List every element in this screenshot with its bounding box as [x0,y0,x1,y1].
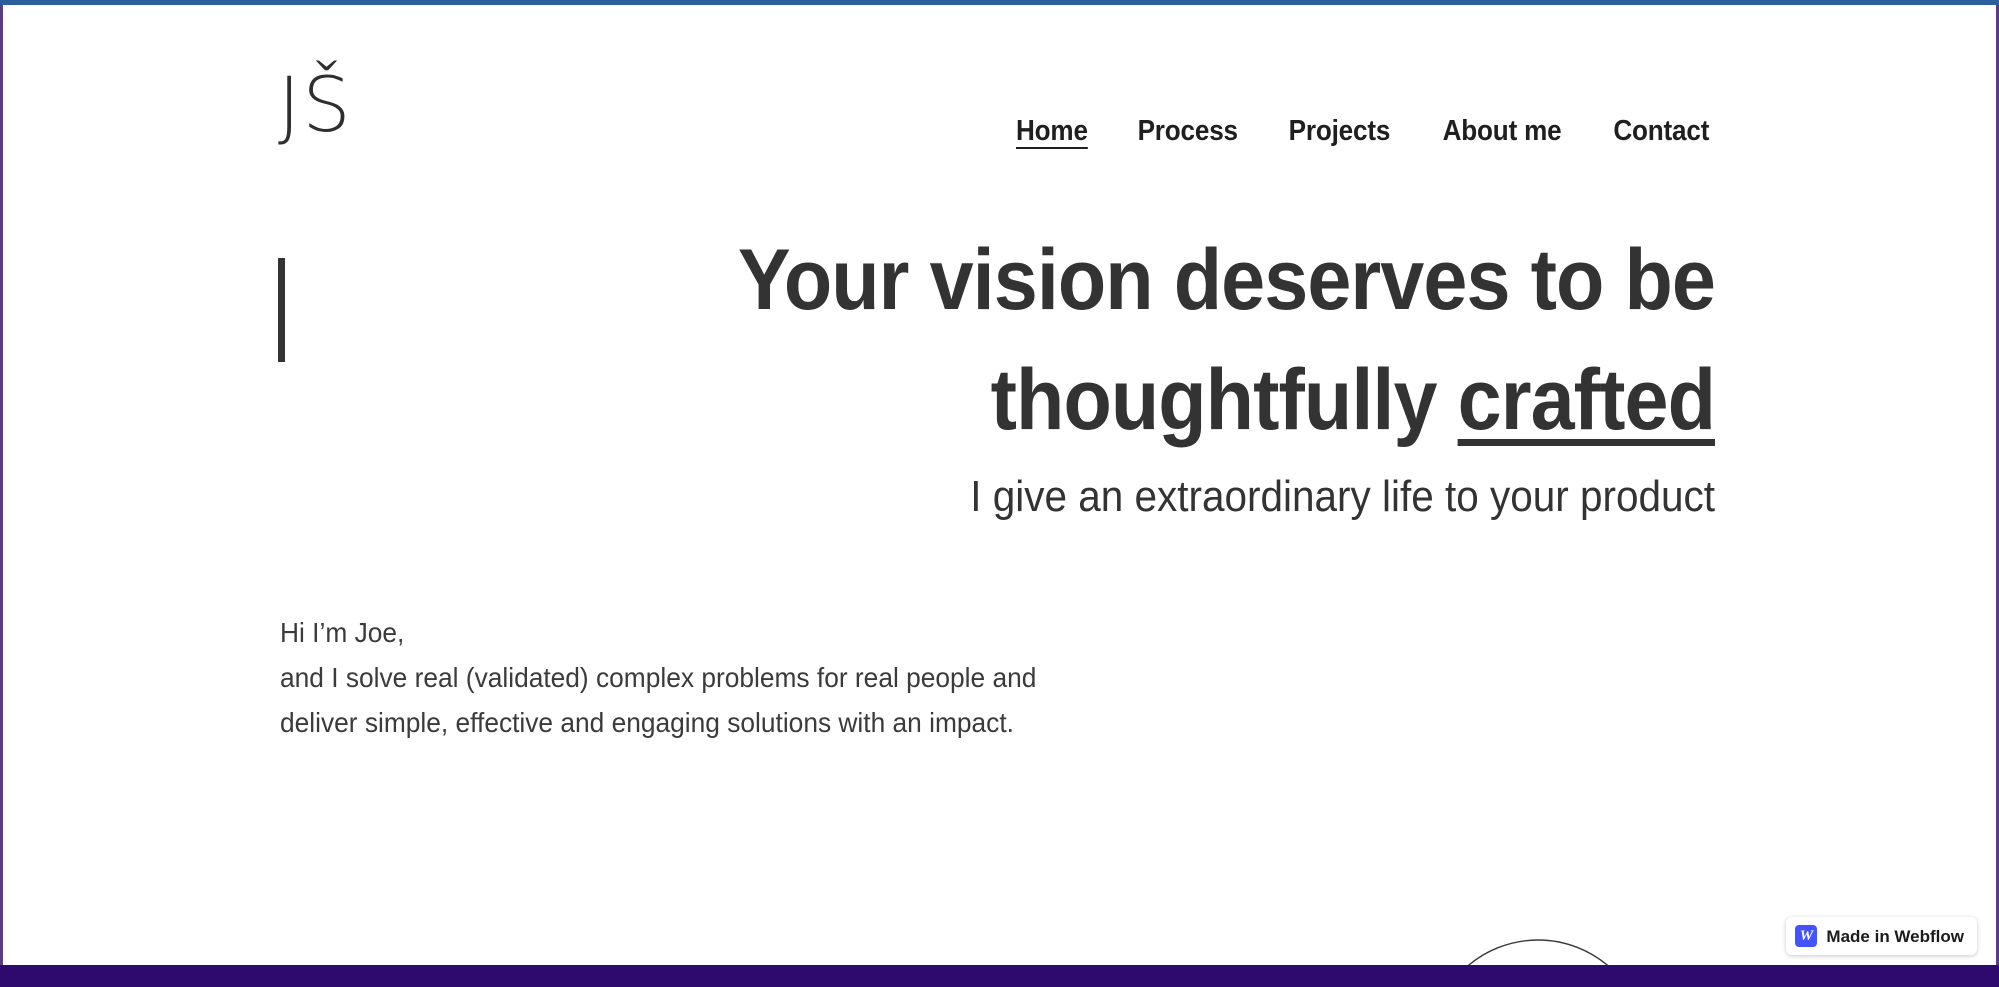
browser-chrome-left-edge [0,5,3,987]
hero-headline-block: Your vision deserves to be thoughtfully … [595,220,1715,524]
venn-diagram: Desirability [Humans] [1328,925,1748,965]
browser-chrome-top-edge [0,0,1999,5]
nav-item-home[interactable]: Home [1016,115,1088,147]
intro-line-3: deliver simple, effective and engaging s… [280,700,1182,745]
nav-item-projects[interactable]: Projects [1289,115,1391,147]
hero-subheadline: I give an extraordinary life to your pro… [685,470,1715,524]
webflow-logo-icon: W [1795,925,1817,947]
site-header: JŠ Home Process Projects About me Contac… [3,5,1996,180]
made-in-webflow-label: Made in Webflow [1826,928,1964,945]
site-logo[interactable]: JŠ [278,67,353,143]
nav-item-process[interactable]: Process [1138,115,1238,147]
browser-chrome-bottom-edge [0,965,1999,987]
hero-headline: Your vision deserves to be thoughtfully … [685,220,1715,460]
nav-item-contact[interactable]: Contact [1614,115,1710,147]
hero-headline-emphasis: crafted [1458,352,1715,448]
intro-line-1: Hi I’m Joe, [280,610,1182,655]
venn-circle-desirability [1430,940,1646,965]
intro-line-2: and I solve real (validated) complex pro… [280,655,1182,700]
intro-copy-block: Hi I’m Joe, and I solve real (validated)… [280,610,1240,745]
venn-diagram-svg: Desirability [Humans] [1328,925,1748,965]
nav-item-about-me[interactable]: About me [1443,115,1562,147]
made-in-webflow-badge[interactable]: W Made in Webflow [1786,917,1977,955]
page-viewport: JŠ Home Process Projects About me Contac… [3,5,1996,965]
main-navigation: Home Process Projects About me Contact [1012,115,1715,147]
vertical-accent-bar [278,258,285,362]
